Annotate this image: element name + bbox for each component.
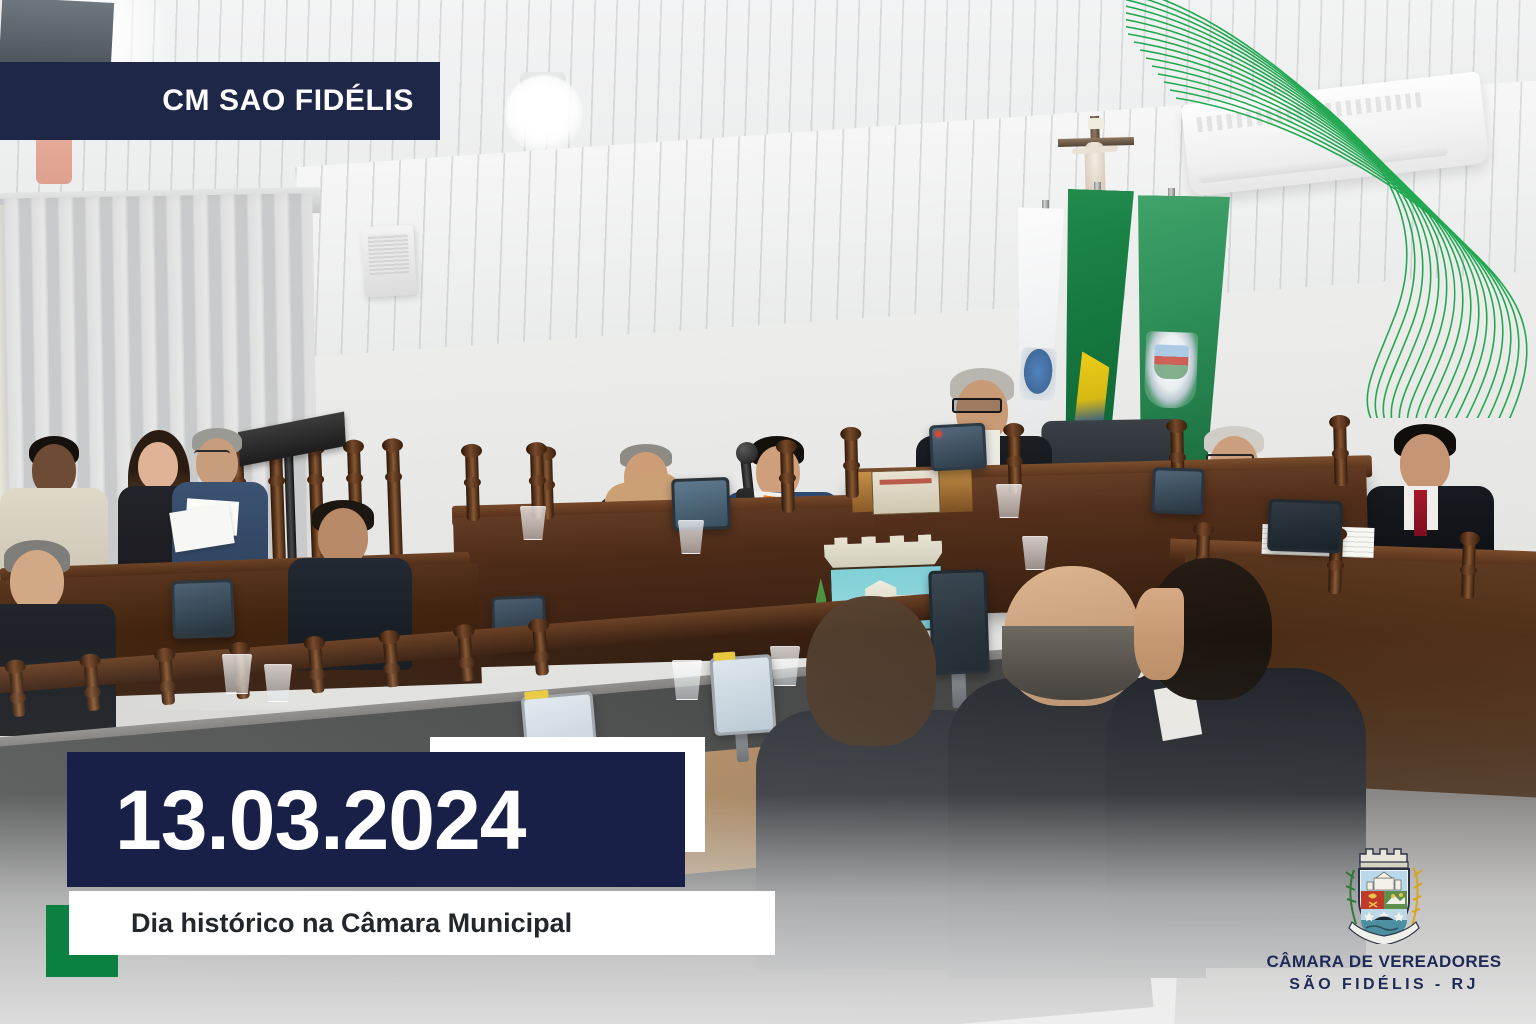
foreground-person-b-hair: [1002, 626, 1142, 700]
institution-logo: CÂMARA DE VEREADORES SÃO FIDÉLIS - RJ: [1264, 836, 1504, 996]
standing-b-head: [138, 442, 178, 490]
chair-left-a: [0, 170, 94, 261]
baluster: [9, 668, 26, 717]
crucifix-inri-plaque: [1088, 118, 1104, 129]
tablet-front-a: [709, 654, 776, 736]
baluster-group-mid-wide: [539, 448, 795, 519]
tablet-screen: [713, 657, 774, 733]
baluster: [84, 662, 101, 711]
plastic-cup: [672, 660, 702, 700]
tablet-councillor-a: [1151, 467, 1205, 515]
header-banner: CM SAO FIDÉLIS: [0, 62, 440, 140]
standing-c-head: [196, 438, 238, 488]
tablet-front-dark: [928, 569, 990, 675]
plastic-cup: [264, 664, 292, 702]
glasses-icon: [194, 450, 230, 460]
baluster: [1333, 424, 1348, 486]
seated-a-head: [10, 550, 64, 612]
coat-of-arms-icon: [1338, 836, 1430, 944]
foreground-person-a-head: [806, 596, 936, 746]
logo-line-2: SÃO FIDÉLIS - RJ: [1289, 976, 1479, 994]
chair-left-b: [0, 258, 105, 348]
tablet-screen: [174, 582, 232, 636]
glasses-icon: [952, 398, 1002, 413]
municipal-flag-arms: [1144, 331, 1199, 409]
plastic-cup: [678, 520, 704, 554]
plastic-cup: [1022, 536, 1048, 570]
tablet-councillor-b: [1267, 499, 1343, 554]
baluster: [383, 639, 400, 688]
baluster: [158, 656, 175, 705]
plastic-cup: [996, 484, 1022, 518]
ceiling-lamp-icon: [505, 75, 583, 153]
header-banner-label: CM SAO FIDÉLIS: [162, 84, 414, 118]
caption-bar: Dia histórico na Câmara Municipal: [69, 891, 775, 955]
councillor-b-tie: [1414, 490, 1427, 536]
ceiling-speaker: [361, 225, 417, 298]
rj-flag-emblem: [1019, 347, 1058, 401]
tablet-president: [929, 423, 987, 472]
baluster-group-president: [844, 424, 1347, 498]
logo-line-1: CÂMARA DE VEREADORES: [1266, 952, 1501, 972]
caption-text: Dia histórico na Câmara Municipal: [131, 908, 572, 939]
tablet-left-desk: [171, 579, 235, 639]
tablet-screen: [932, 426, 984, 469]
councillor-b-head: [1400, 434, 1450, 492]
plastic-cup: [770, 646, 800, 686]
baluster: [780, 448, 795, 512]
date-text: 13.03.2024: [115, 778, 525, 862]
date-badge: 13.03.2024: [67, 752, 685, 887]
tablet-screen: [931, 572, 986, 672]
plastic-cup: [222, 654, 252, 694]
plastic-cup: [520, 506, 546, 540]
baluster: [458, 633, 475, 682]
social-media-graphic: CM SAO FIDÉLIS 13.03.2024 Dia histórico …: [0, 0, 1536, 1024]
baluster: [1461, 540, 1476, 598]
tablet-screen: [1154, 470, 1201, 512]
baluster: [308, 645, 325, 694]
baluster: [269, 451, 286, 561]
baluster: [844, 436, 859, 498]
foreground-person-c-face: [1134, 588, 1184, 680]
baluster: [465, 453, 480, 521]
tablet-screen: [1270, 502, 1340, 550]
